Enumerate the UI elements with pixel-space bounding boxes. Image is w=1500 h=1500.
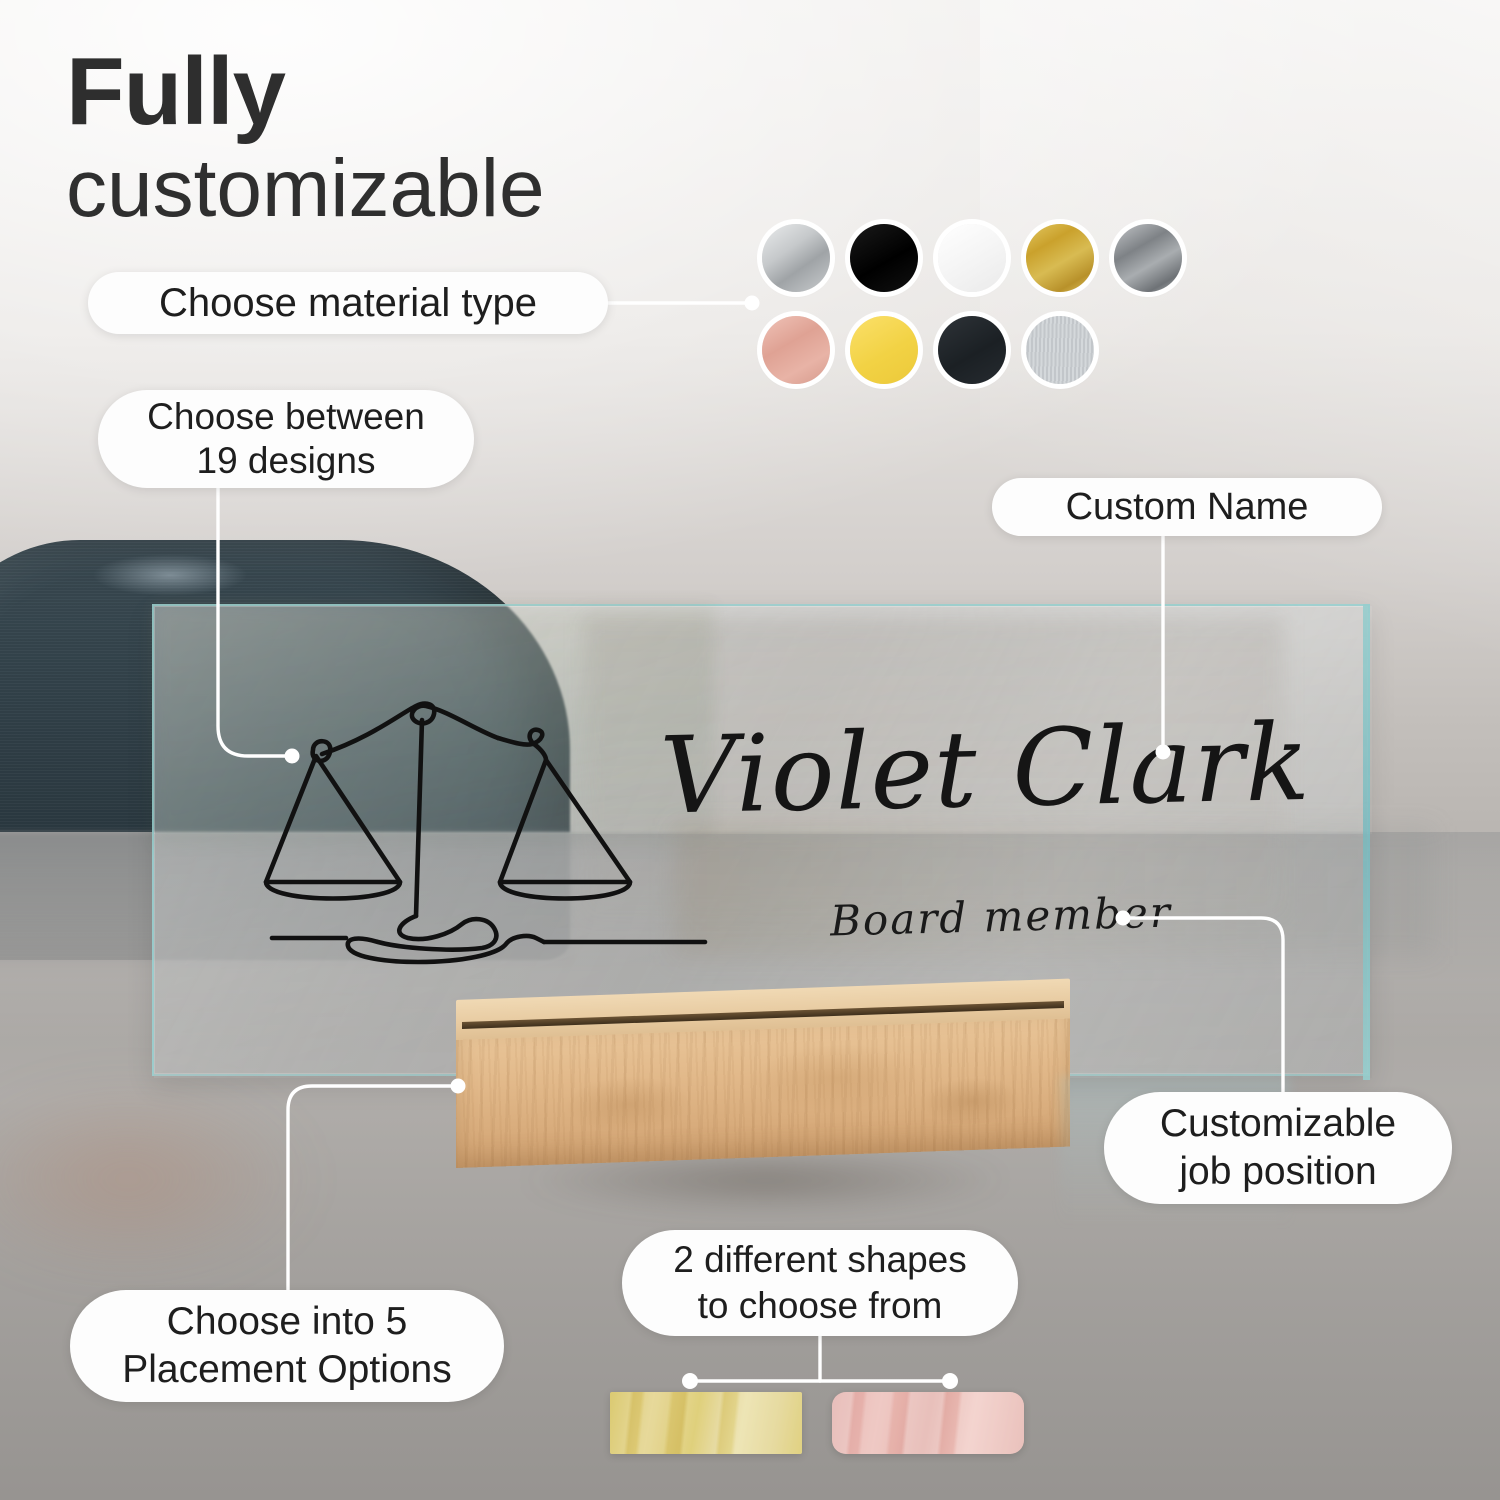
plate-edge xyxy=(1363,604,1370,1080)
swatch-matte-charcoal[interactable] xyxy=(938,316,1006,384)
wood-base-shadow xyxy=(440,1156,1090,1236)
shape-sharp-texture xyxy=(610,1392,802,1454)
callout-design-count[interactable]: Choose between 19 designs xyxy=(98,390,474,488)
swatch-brushed-silver[interactable] xyxy=(1026,316,1094,384)
swatch-mirror-silver[interactable] xyxy=(762,224,830,292)
wood-base-face xyxy=(456,1019,1070,1168)
callout-job-position[interactable]: Customizable job position xyxy=(1104,1092,1452,1204)
wood-grain-texture xyxy=(456,1019,1070,1168)
scales-of-justice-icon xyxy=(250,690,720,970)
engraved-job-title: Board member xyxy=(829,881,1250,952)
shape-round-texture xyxy=(832,1392,1024,1454)
callout-placement-options[interactable]: Choose into 5 Placement Options xyxy=(70,1290,504,1402)
swatch-gloss-white[interactable] xyxy=(938,224,1006,292)
swatch-mirror-gold[interactable] xyxy=(1026,224,1094,292)
desk-warm-reflection xyxy=(0,1080,380,1300)
swatch-rose-gold[interactable] xyxy=(762,316,830,384)
shape-option-sharp-corner[interactable] xyxy=(610,1392,802,1454)
wood-base xyxy=(456,1000,1070,1168)
shape-option-rounded-corner[interactable] xyxy=(832,1392,1024,1454)
swatch-brushed-steel[interactable] xyxy=(1114,224,1182,292)
swatch-matte-yellow[interactable] xyxy=(850,316,918,384)
headline-primary: Fully xyxy=(66,44,285,140)
callout-shape-options[interactable]: 2 different shapes to choose from xyxy=(622,1230,1018,1336)
headline-secondary: customizable xyxy=(66,148,545,230)
material-swatch-group[interactable] xyxy=(762,222,1168,386)
callout-material-type[interactable]: Choose material type xyxy=(88,272,608,334)
swatch-gloss-black[interactable] xyxy=(850,224,918,292)
engraved-name: Violet Clark xyxy=(659,694,1282,847)
chair-highlight xyxy=(60,550,280,600)
shape-options-group[interactable] xyxy=(610,1392,1030,1470)
callout-custom-name[interactable]: Custom Name xyxy=(992,478,1382,536)
